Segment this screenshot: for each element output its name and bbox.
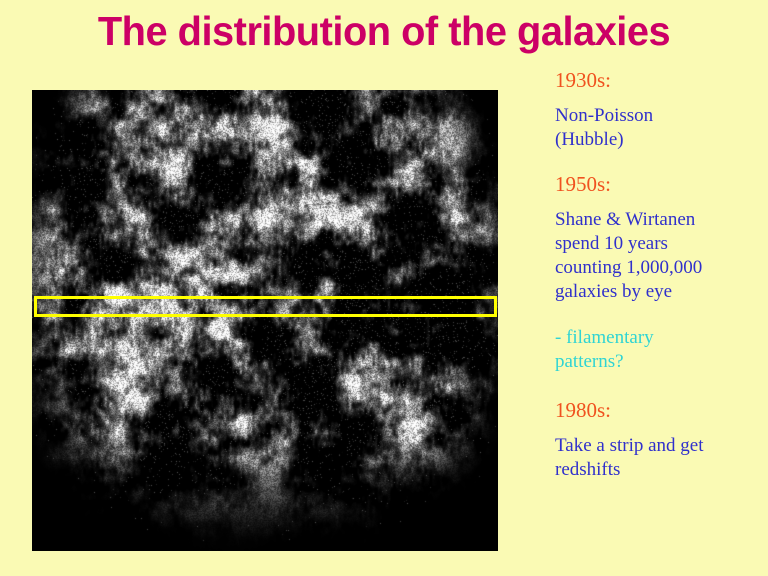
page-title: The distribution of the galaxies [12, 8, 757, 54]
note-line: Non-Poisson [555, 104, 760, 128]
spacer [555, 308, 760, 326]
note-block-filamentary: - filamentary patterns? [555, 326, 760, 374]
spacer [555, 424, 760, 434]
spacer [555, 198, 760, 208]
spacer [555, 378, 760, 396]
note-block-1980s: 1980s: Take a strip and get redshifts [555, 396, 760, 482]
galaxy-distribution-map [32, 90, 498, 551]
slide-root: The distribution of the galaxies 1930s: … [0, 0, 768, 576]
note-block-1950s: 1950s: Shane & Wirtanen spend 10 years c… [555, 170, 760, 304]
note-line: galaxies by eye [555, 280, 760, 304]
note-line: (Hubble) [555, 128, 760, 152]
galaxy-map-panel [32, 90, 498, 551]
note-line: Take a strip and get [555, 434, 760, 458]
note-heading-1950s: 1950s: [555, 170, 760, 198]
note-line: patterns? [555, 350, 760, 374]
note-line: counting 1,000,000 [555, 256, 760, 280]
spacer [555, 94, 760, 104]
note-line: spend 10 years [555, 232, 760, 256]
notes-column: 1930s: Non-Poisson (Hubble) 1950s: Shane… [555, 66, 760, 486]
note-line: Shane & Wirtanen [555, 208, 760, 232]
note-block-1930s: 1930s: Non-Poisson (Hubble) [555, 66, 760, 152]
note-line: redshifts [555, 458, 760, 482]
note-heading-1980s: 1980s: [555, 396, 760, 424]
spacer [555, 156, 760, 170]
note-line: - filamentary [555, 326, 760, 350]
redshift-strip-highlight [34, 296, 497, 317]
note-heading-1930s: 1930s: [555, 66, 760, 94]
